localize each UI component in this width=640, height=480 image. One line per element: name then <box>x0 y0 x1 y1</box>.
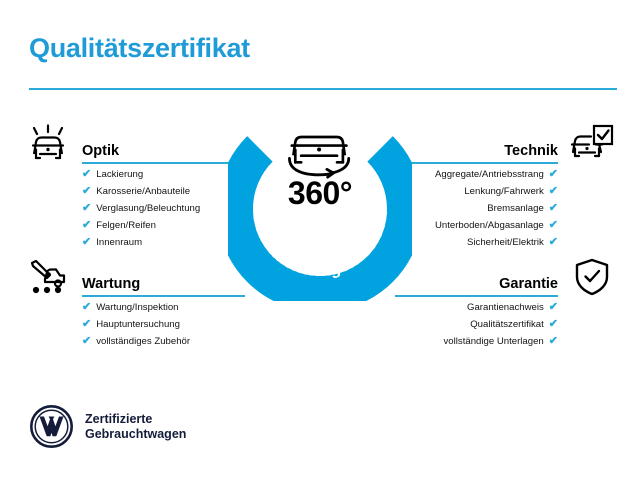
list-item-label: Bremsanlage <box>487 200 544 217</box>
wartung-list: ✔Wartung/Inspektion ✔Hauptuntersuchung ✔… <box>82 299 245 350</box>
section-optik-divider <box>82 162 245 164</box>
check-icon: ✔ <box>82 237 91 248</box>
vw-footer-line2: Gebrauchtwagen <box>85 427 186 442</box>
list-item: Unterboden/Abgasanlage✔ <box>395 217 558 234</box>
section-garantie: Garantie Garantienachweis✔ Qualitätszert… <box>395 257 615 350</box>
garantie-list: Garantienachweis✔ Qualitätszertifikat✔ v… <box>395 299 558 350</box>
shield-check-icon <box>569 257 615 297</box>
section-technik-header: Technik <box>395 124 615 166</box>
list-item-label: Hauptuntersuchung <box>96 316 180 333</box>
section-wartung-divider <box>82 295 245 297</box>
list-item: ✔Karosserie/Anbauteile <box>82 183 245 200</box>
check-icon: ✔ <box>549 220 558 231</box>
car-shine-icon <box>25 124 71 164</box>
check-icon: ✔ <box>82 186 91 197</box>
section-wartung-header: Wartung <box>25 257 245 299</box>
check-icon: ✔ <box>82 302 91 313</box>
section-wartung: Wartung ✔Wartung/Inspektion ✔Hauptunters… <box>25 257 245 350</box>
list-item: Aggregate/Antriebsstrang✔ <box>395 166 558 183</box>
check-icon: ✔ <box>82 203 91 214</box>
badge-degrees: 360° <box>228 175 412 212</box>
list-item: ✔Hauptuntersuchung <box>82 316 245 333</box>
section-optik-header: Optik <box>25 124 245 166</box>
list-item-label: Lackierung <box>96 166 143 183</box>
list-item: ✔Innenraum <box>82 234 245 251</box>
list-item: vollständige Unterlagen✔ <box>395 333 558 350</box>
list-item: ✔Felgen/Reifen <box>82 217 245 234</box>
check-icon: ✔ <box>549 203 558 214</box>
wrench-car-icon <box>25 257 71 297</box>
vw-logo-icon <box>29 404 74 449</box>
list-item: ✔vollständiges Zubehör <box>82 333 245 350</box>
list-item: Garantienachweis✔ <box>395 299 558 316</box>
check-icon: ✔ <box>549 319 558 330</box>
list-item-label: vollständige Unterlagen <box>444 333 544 350</box>
vw-footer: Zertifizierte Gebrauchtwagen <box>29 404 186 449</box>
list-item: ✔Lackierung <box>82 166 245 183</box>
section-garantie-title: Garantie <box>499 276 558 292</box>
technik-list: Aggregate/Antriebsstrang✔ Lenkung/Fahrwe… <box>395 166 558 251</box>
list-item-label: Sicherheit/Elektrik <box>467 234 544 251</box>
list-item: Lenkung/Fahrwerk✔ <box>395 183 558 200</box>
list-item-label: Innenraum <box>96 234 142 251</box>
list-item: ✔Wartung/Inspektion <box>82 299 245 316</box>
optik-list: ✔Lackierung ✔Karosserie/Anbauteile ✔Verg… <box>82 166 245 251</box>
list-item: Sicherheit/Elektrik✔ <box>395 234 558 251</box>
list-item-label: Wartung/Inspektion <box>96 299 178 316</box>
certificate-page: Qualitätszertifikat <box>0 0 640 480</box>
title-divider <box>29 88 617 90</box>
section-garantie-divider <box>395 295 558 297</box>
check-icon: ✔ <box>549 169 558 180</box>
section-wartung-title: Wartung <box>82 276 140 292</box>
list-item-label: Felgen/Reifen <box>96 217 156 234</box>
section-technik-divider <box>395 162 558 164</box>
list-item-label: Qualitätszertifikat <box>470 316 544 333</box>
list-item-label: vollständiges Zubehör <box>96 333 190 350</box>
check-icon: ✔ <box>549 186 558 197</box>
section-optik: Optik ✔Lackierung ✔Karosserie/Anbauteile… <box>25 124 245 251</box>
vw-footer-line1: Zertifizierte <box>85 412 186 427</box>
list-item-label: Lenkung/Fahrwerk <box>464 183 543 200</box>
list-item: Bremsanlage✔ <box>395 200 558 217</box>
list-item-label: Unterboden/Abgasanlage <box>435 217 544 234</box>
car-checkbox-icon <box>569 124 615 164</box>
list-item: Qualitätszertifikat✔ <box>395 316 558 333</box>
vw-footer-text: Zertifizierte Gebrauchtwagen <box>85 412 186 442</box>
list-item: ✔Verglasung/Beleuchtung <box>82 200 245 217</box>
section-technik-title: Technik <box>504 143 558 159</box>
list-item-label: Garantienachweis <box>467 299 544 316</box>
list-item-label: Karosserie/Anbauteile <box>96 183 190 200</box>
check-icon: ✔ <box>549 302 558 313</box>
page-title: Qualitätszertifikat <box>29 33 250 64</box>
360-check-badge: Gebrauchtwagen-Check 360° <box>228 117 412 301</box>
check-icon: ✔ <box>82 319 91 330</box>
check-icon: ✔ <box>549 336 558 347</box>
check-icon: ✔ <box>549 237 558 248</box>
check-icon: ✔ <box>82 220 91 231</box>
list-item-label: Aggregate/Antriebsstrang <box>435 166 544 183</box>
check-icon: ✔ <box>82 169 91 180</box>
section-technik: Technik Aggregate/Antriebsstrang✔ Lenkun… <box>395 124 615 251</box>
section-optik-title: Optik <box>82 143 119 159</box>
check-icon: ✔ <box>82 336 91 347</box>
list-item-label: Verglasung/Beleuchtung <box>96 200 200 217</box>
section-garantie-header: Garantie <box>395 257 615 299</box>
